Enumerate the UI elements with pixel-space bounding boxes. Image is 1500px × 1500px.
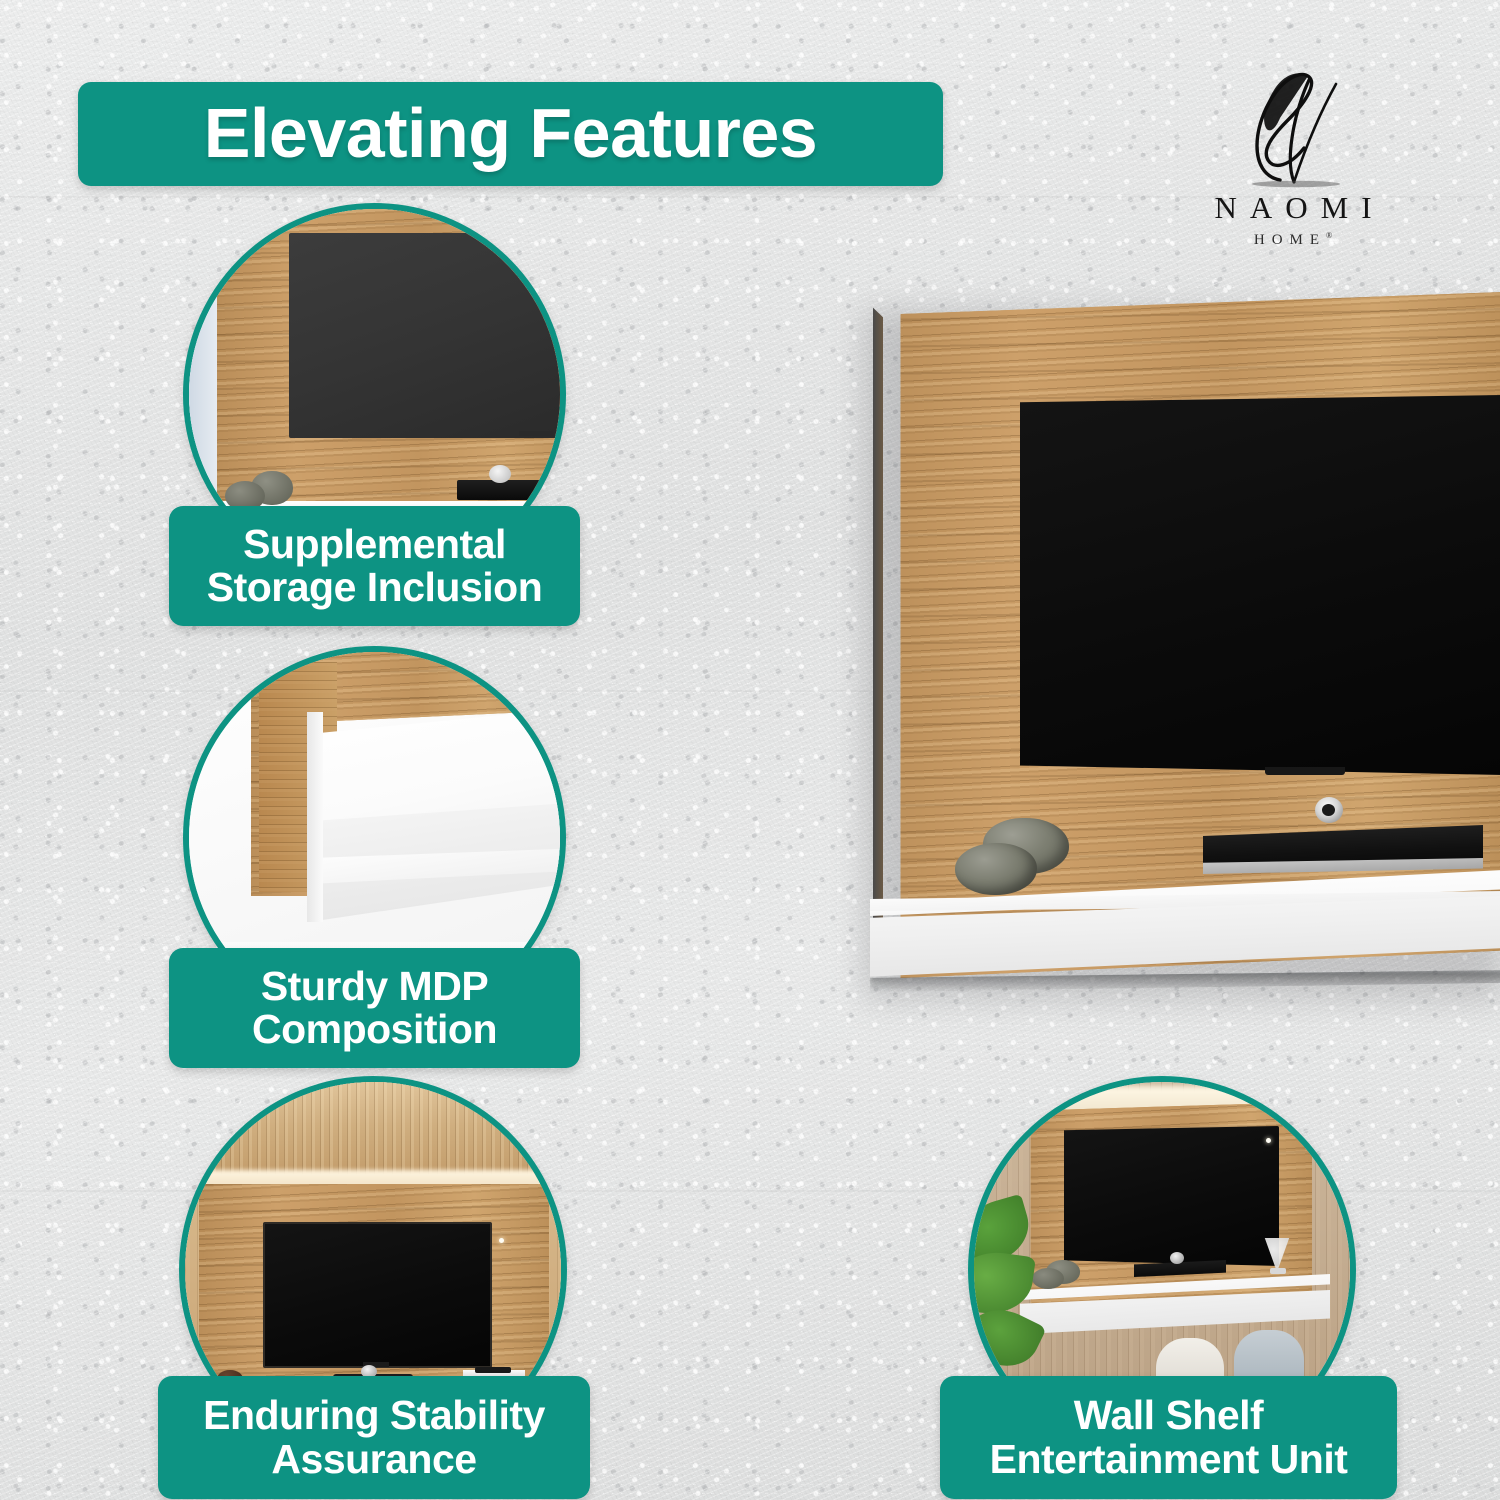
brand-subtitle: HOME®	[1247, 232, 1339, 248]
hero-product-image	[845, 270, 1500, 1030]
feature-4-label-line2: Entertainment Unit	[990, 1438, 1348, 1481]
feature-1-label-line1: Supplemental	[243, 523, 506, 566]
feature-2-label: Sturdy MDP Composition	[169, 948, 580, 1068]
page-title-text: Elevating Features	[204, 97, 817, 171]
panel-side-edge	[873, 294, 883, 976]
brand-name: NAOMI	[1201, 192, 1384, 223]
feature-enduring-stability[interactable]: Enduring Stability Assurance	[176, 1076, 571, 1500]
feature-supplemental-storage[interactable]: Supplemental Storage Inclusion	[183, 203, 566, 633]
feature-wall-shelf-entertainment[interactable]: Wall Shelf Entertainment Unit	[963, 1076, 1363, 1500]
tv-screen	[1020, 395, 1500, 775]
feature-1-label-line2: Storage Inclusion	[207, 566, 543, 609]
page-title: Elevating Features	[78, 82, 943, 186]
feature-2-label-line2: Composition	[252, 1008, 497, 1051]
feature-3-label: Enduring Stability Assurance	[158, 1376, 590, 1499]
media-player-knob	[1315, 797, 1343, 823]
feature-1-label: Supplemental Storage Inclusion	[169, 506, 580, 626]
feature-3-label-line2: Assurance	[271, 1438, 476, 1481]
naomi-monogram-icon	[1218, 62, 1368, 190]
feature-4-label-line1: Wall Shelf	[1074, 1394, 1263, 1437]
tv-foot	[1265, 767, 1345, 775]
feature-4-label: Wall Shelf Entertainment Unit	[940, 1376, 1397, 1499]
glass-vase-front	[955, 843, 1037, 895]
feature-3-label-line1: Enduring Stability	[203, 1394, 545, 1437]
feature-sturdy-mdp[interactable]: Sturdy MDP Composition	[183, 646, 566, 1074]
feature-2-label-line1: Sturdy MDP	[261, 965, 488, 1008]
brand-logo: NAOMI HOME®	[1143, 62, 1443, 262]
